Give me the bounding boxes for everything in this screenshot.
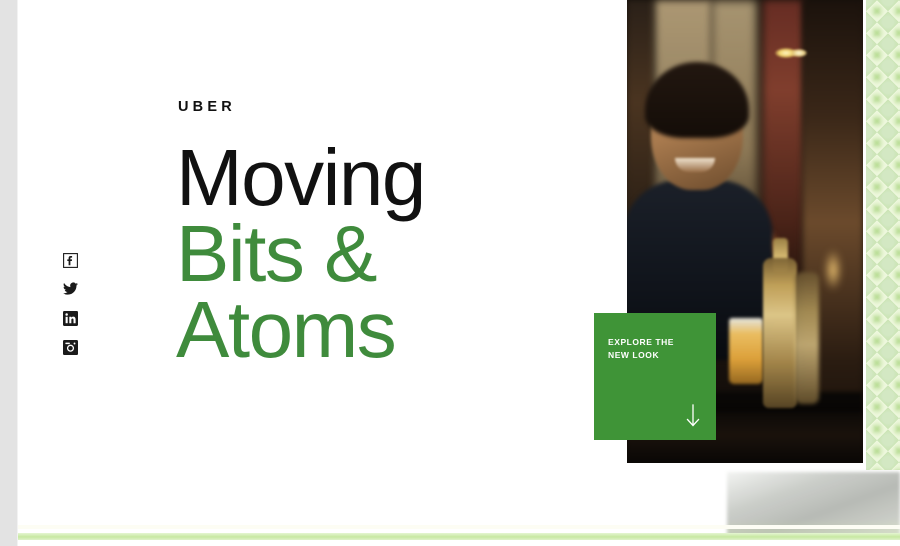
photo-bottle-secondary: [795, 272, 819, 404]
explore-new-look-cta[interactable]: EXPLORE THE NEW LOOK: [594, 313, 716, 440]
instagram-icon: [63, 340, 78, 355]
headline-line-1: Moving: [176, 140, 596, 216]
uber-wordmark: UBER: [178, 99, 236, 115]
page-title: Moving Bits & Atoms: [176, 140, 596, 368]
twitter-icon: [63, 282, 78, 296]
headline-line-3: Atoms: [176, 292, 596, 368]
photo-lamp-light-secondary: [791, 49, 807, 57]
bottom-cream-strip: [18, 525, 900, 529]
cta-label-line-1: EXPLORE THE: [608, 337, 674, 347]
cta-label-line-2: NEW LOOK: [608, 350, 659, 360]
facebook-icon: [63, 253, 78, 268]
window-left-gutter: [0, 0, 18, 546]
photo-bottle: [763, 258, 797, 408]
linkedin-icon: [63, 311, 78, 326]
social-link-twitter[interactable]: [62, 281, 78, 297]
green-lattice-pattern: [866, 0, 900, 470]
hero-page: EXPLORE THE NEW LOOK UBER Moving Bits & …: [0, 0, 900, 546]
bottom-white-strip: [18, 540, 900, 546]
social-link-instagram[interactable]: [62, 339, 78, 355]
photo-bokeh-highlight: [825, 250, 841, 290]
photo-beer-glass: [729, 318, 763, 384]
social-link-linkedin[interactable]: [62, 310, 78, 326]
social-links-rail: [62, 252, 80, 355]
cta-label: EXPLORE THE NEW LOOK: [608, 336, 698, 361]
headline-line-2: Bits &: [176, 216, 596, 292]
bottom-green-strip: [18, 533, 900, 540]
social-link-facebook[interactable]: [62, 252, 78, 268]
